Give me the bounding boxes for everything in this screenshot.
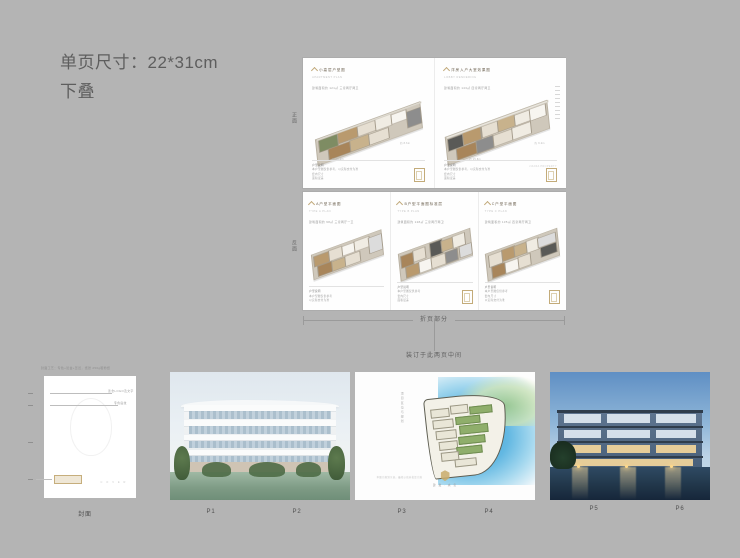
window [564, 414, 601, 423]
page-heading: A户型平面图 [316, 202, 341, 207]
lot [438, 440, 458, 451]
footer-note-2: 以实际交付为准 [309, 299, 384, 303]
page-header: 洋房入户大堂效果图 LOBBY RENDERING 建筑面积约 143㎡ 四室两… [444, 68, 557, 90]
page-title: 单页尺寸：22*31cm 下叠 [60, 48, 218, 106]
spread-back[interactable]: A户型平面图 TYPE A PLAN 建筑面积约 98㎡ 三室两厅一卫 [303, 192, 565, 310]
footer-divider [309, 286, 384, 287]
page-subheading: TYPE C PLAN [485, 210, 560, 213]
rail-mark [555, 114, 560, 115]
page-description: 建筑面积约 128㎡ 三室两厅两卫 [397, 220, 472, 224]
page-label-cover: 封面 [78, 509, 92, 518]
corner-mark-icon [443, 67, 450, 74]
rail-mark [555, 86, 560, 87]
page-subheading: LOBBY RENDERING [444, 76, 557, 79]
page-label-p3: P3 [398, 509, 407, 515]
callout-text: 烫金LOGO及文字 [108, 389, 134, 393]
cover-sheet[interactable]: C O V E R [44, 376, 136, 498]
rail-mark [555, 118, 560, 119]
floorplan-render [313, 110, 423, 157]
rail-mark [555, 106, 560, 107]
page-heading: B户型平面图标准层 [404, 202, 442, 207]
page-description: 建筑面积约 143㎡ 四室两厅两卫 [444, 86, 557, 90]
corner-mark-icon [396, 201, 403, 208]
floor-band [558, 413, 702, 426]
page-label-p2: P2 [293, 509, 302, 515]
floorplan-render [397, 230, 472, 277]
page-description: 建筑面积约 135㎡ 四室两厅两卫 [485, 220, 560, 224]
window [564, 430, 601, 439]
floor-band [558, 428, 702, 441]
tree [328, 446, 344, 479]
plan-compass-badge [549, 290, 560, 304]
page-label-p5: P5 [590, 506, 599, 512]
callout-tick [28, 442, 33, 443]
rail-mark [555, 98, 560, 99]
rail-mark [555, 102, 560, 103]
site-plan-side-text: 项目区位与规划 [398, 392, 404, 450]
callout-line [50, 405, 118, 406]
plan-compass-badge [546, 168, 557, 182]
plan-compass-badge [414, 168, 425, 182]
reflecting-pool [550, 467, 710, 500]
page-heading: 小高层户型图 [319, 68, 345, 73]
floorplan-render [310, 232, 383, 277]
building-facade [184, 405, 335, 466]
page-heading: C户型平面图 [492, 202, 517, 207]
plan-compass-badge [462, 290, 473, 304]
brand-name: 建 发 · 央 玺 [433, 483, 457, 487]
thumbnail-site-plan[interactable]: 项目区位与规划 本图为规划示意，最终以政府批复为准 建 发 · 央 玺 [355, 372, 535, 500]
footer-divider [397, 282, 472, 283]
lot [450, 404, 469, 415]
rail-mark [555, 90, 560, 91]
page-footer: 户型说明 本户型图仅供参考，以实际交付为准 套内尺寸 面积误差 [312, 160, 425, 181]
window-lit [567, 459, 694, 466]
shrub [249, 462, 285, 477]
floor-band [558, 443, 702, 456]
spread-page-c[interactable]: A户型平面图 TYPE A PLAN 建筑面积约 98㎡ 三室两厅一卫 [303, 192, 390, 310]
cover-corner-text: C O V E R [100, 481, 127, 484]
window [656, 414, 696, 423]
callout-tick [28, 479, 33, 480]
page-title-row: 小高层户型图 [312, 68, 425, 73]
page-header: C户型平面图 TYPE C PLAN 建筑面积约 135㎡ 四室两厅两卫 [485, 202, 560, 224]
spread-bottom-side-label: 反面 [288, 228, 300, 264]
rail-mark [555, 94, 560, 95]
page-description: 建筑面积约 121㎡ 三室两厅两卫 [312, 86, 425, 90]
dimension-end-cap [303, 316, 304, 325]
glazing-band [189, 426, 331, 433]
plan-dimension-depth: 约 9.2m [535, 141, 545, 145]
footer-divider [485, 282, 560, 283]
page-description: 建筑面积约 98㎡ 三室两厅一卫 [309, 220, 384, 224]
lot [433, 418, 455, 429]
footer-note-3: 面积误差 [312, 177, 425, 181]
spread-page-d[interactable]: B户型平面图标准层 TYPE B PLAN 建筑面积约 128㎡ 三室两厅两卫 [390, 192, 478, 310]
cover-logo [54, 475, 82, 484]
cover-spec-note: 封面工艺：专色+烫金+压凹，纸张 250g哑粉纸 [41, 366, 110, 370]
corner-mark-icon [311, 67, 318, 74]
light-reflection [620, 467, 636, 500]
page-label-p6: P6 [676, 506, 685, 512]
footer-divider [312, 160, 425, 161]
lot [430, 407, 450, 418]
callout-line [36, 479, 52, 480]
glazing-band [189, 441, 331, 448]
tree [174, 446, 190, 479]
floor-slab [184, 435, 335, 441]
floor-slab [184, 450, 335, 456]
page-header: B户型平面图标准层 TYPE B PLAN 建筑面积约 128㎡ 三室两厅两卫 [397, 202, 472, 224]
site-plan-logo: 建 发 · 央 玺 [433, 470, 457, 487]
plan-dimension-depth: 约 8.6m [400, 141, 410, 145]
lot [458, 434, 486, 445]
page-footer: 户型说明 本户型图仅供参考，以实际交付为准 套内尺寸 面积误差 [444, 160, 557, 181]
layout-canvas: 单页尺寸：22*31cm 下叠 正面 小高层户型图 APARTMENT PLAN… [0, 0, 740, 558]
lot [435, 429, 457, 440]
size-spec-line: 单页尺寸：22*31cm [60, 53, 218, 72]
page-side-rail [555, 86, 560, 119]
shrub [202, 462, 231, 477]
spread-page-e[interactable]: C户型平面图 TYPE C PLAN 建筑面积约 135㎡ 四室两厅两卫 [478, 192, 566, 310]
callout-tick [28, 393, 33, 394]
page-label-p1: P1 [207, 509, 216, 515]
cover-watermark [70, 398, 112, 456]
window-lit [607, 445, 650, 454]
window [607, 414, 650, 423]
spread-front[interactable]: 小高层户型图 APARTMENT PLAN 建筑面积约 121㎡ 三室两厅两卫 [303, 58, 565, 188]
rail-mark [555, 110, 560, 111]
callout-tick [28, 405, 33, 406]
floor-slab [184, 405, 335, 411]
page-subheading: APARTMENT PLAN [312, 76, 425, 79]
page-title-row: A户型平面图 [309, 202, 384, 207]
thumbnail-exterior-dusk[interactable] [550, 372, 710, 500]
lot [454, 457, 477, 468]
lot [456, 445, 482, 456]
corner-mark-icon [308, 201, 315, 208]
footer-divider [444, 160, 557, 161]
crest-icon [440, 470, 449, 481]
window [656, 430, 696, 439]
fold-spec-line: 下叠 [60, 77, 218, 106]
thumbnail-exterior-day[interactable] [170, 372, 350, 500]
shrub [296, 462, 321, 477]
floor-slab [184, 420, 335, 426]
page-title-row: 洋房入户大堂效果图 [444, 68, 557, 73]
building-facade [558, 410, 702, 466]
callout-line [50, 393, 112, 394]
floorplan-render [443, 107, 550, 156]
page-title-row: B户型平面图标准层 [397, 202, 472, 207]
site-plan-note: 本图为规划示意，最终以政府批复为准 [377, 476, 423, 479]
page-subheading: TYPE A PLAN [309, 210, 384, 213]
page-footer: 户型说明 本户型图仅供参考 以实际交付为准 [309, 286, 384, 303]
cover-thumbnail[interactable]: 封面工艺：专色+烫金+压凹，纸张 250g哑粉纸 C O V E R 烫金LOG… [28, 366, 143, 506]
spread-page-b[interactable]: 洋房入户大堂效果图 LOBBY RENDERING 建筑面积约 143㎡ 四室两… [434, 58, 566, 188]
landscape-light [670, 465, 673, 468]
window [607, 430, 650, 439]
callout-text: 专色底纹 [114, 401, 127, 405]
light-reflection [572, 467, 588, 500]
page-title-row: C户型平面图 [485, 202, 560, 207]
light-reflection [665, 467, 681, 500]
spread-page-a[interactable]: 小高层户型图 APARTMENT PLAN 建筑面积约 121㎡ 三室两厅两卫 [303, 58, 434, 188]
page-subheading: TYPE B PLAN [397, 210, 472, 213]
corner-mark-icon [484, 201, 491, 208]
floorplan-render [484, 230, 559, 277]
tree-cluster [550, 441, 576, 469]
dimension-end-cap [564, 316, 565, 325]
binding-note: 装订于此两页中间 [406, 350, 462, 359]
lot [469, 404, 492, 415]
page-heading: 洋房入户大堂效果图 [451, 68, 491, 73]
spread-top-side-label: 正面 [288, 100, 300, 136]
page-label-p4: P4 [485, 509, 494, 515]
binding-leader-line [434, 321, 435, 351]
footer-note-3: 面积误差 [444, 177, 557, 181]
window-lit [656, 445, 696, 454]
page-header: 小高层户型图 APARTMENT PLAN 建筑面积约 121㎡ 三室两厅两卫 [312, 68, 425, 90]
page-header: A户型平面图 TYPE A PLAN 建筑面积约 98㎡ 三室两厅一卫 [309, 202, 384, 224]
glazing-band [189, 411, 331, 418]
